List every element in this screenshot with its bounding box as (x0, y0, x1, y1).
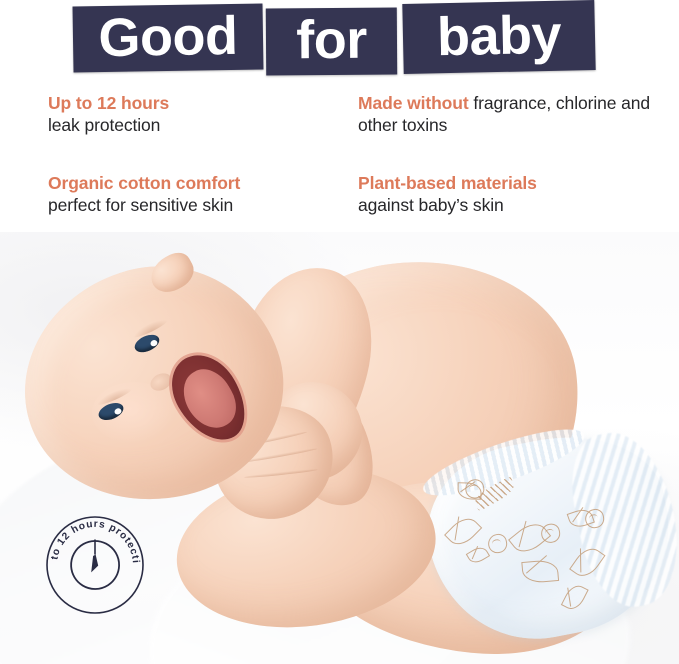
feature-organic-cotton: Organic cotton comfort perfect for sensi… (48, 172, 348, 216)
feature-leak-protection-subtitle: leak protection (48, 114, 348, 136)
feature-plant-based-subtitle: against baby’s skin (358, 194, 658, 216)
headline-banner: Good for baby (0, 0, 679, 86)
headline-word-baby: baby (402, 0, 595, 74)
feature-plant-based: Plant-based materials against baby’s ski… (358, 172, 658, 216)
feature-organic-cotton-subtitle: perfect for sensitive skin (48, 194, 348, 216)
baby-product-photo: up to 12 hours protection (0, 232, 679, 664)
feature-organic-cotton-title: Organic cotton comfort (48, 172, 348, 194)
headline-word-good-label: Good (98, 8, 238, 64)
headline-word-baby-label: baby (436, 8, 561, 65)
feature-made-without-toxins-lead: Made without (358, 93, 469, 113)
headline-word-for-label: for (296, 13, 367, 67)
up-to-12-hours-protection-badge: up to 12 hours protection (45, 515, 145, 615)
clock-hand-icon (91, 555, 98, 573)
feature-plant-based-title: Plant-based materials (358, 172, 658, 194)
headline-word-good: Good (72, 4, 263, 73)
feature-list: Up to 12 hours leak protection Made with… (0, 92, 679, 232)
feature-leak-protection: Up to 12 hours leak protection (48, 92, 348, 136)
feature-made-without-toxins-text: Made without fragrance, chlorine and oth… (358, 92, 658, 136)
feature-leak-protection-title: Up to 12 hours (48, 92, 348, 114)
feature-made-without-toxins: Made without fragrance, chlorine and oth… (358, 92, 658, 136)
product-feature-graphic: Good for baby Up to 12 hours leak protec… (0, 0, 679, 664)
headline-word-for: for (266, 8, 397, 76)
